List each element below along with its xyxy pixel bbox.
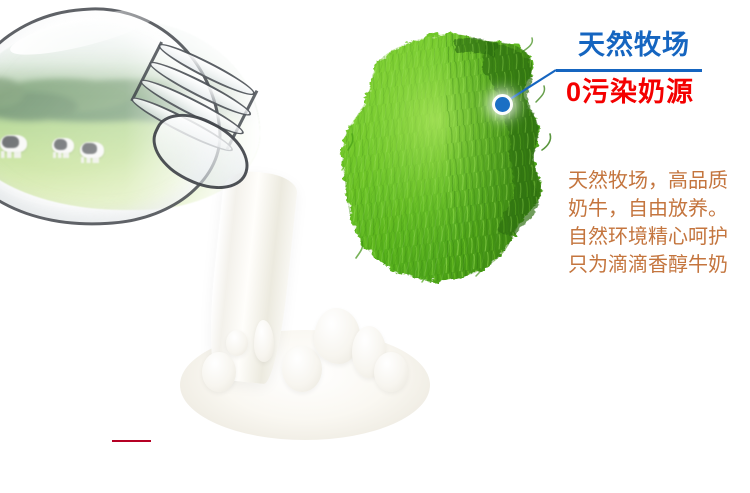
body-copy-line: 奶牛，自由放养。: [568, 195, 748, 223]
map-location-pin[interactable]: [495, 97, 510, 112]
body-copy-line: 天然牧场，高品质: [568, 167, 748, 195]
milk-splash-crown: [196, 300, 412, 398]
headline-secondary: 0污染奶源: [566, 75, 694, 109]
promo-banner: 天然牧场 0污染奶源 天然牧场，高品质 奶牛，自由放养。 自然环境精心呵护 只为…: [0, 0, 750, 493]
body-copy-line: 自然环境精心呵护: [568, 223, 748, 251]
headline-divider: [556, 69, 702, 72]
body-copy-line: 只为滴滴香醇牛奶: [568, 251, 748, 279]
splash-blob: [374, 352, 408, 392]
splash-blob: [282, 346, 322, 392]
headline-primary: 天然牧场: [578, 28, 690, 62]
splash-blob: [226, 330, 248, 356]
ireland-grass-map: [336, 30, 572, 296]
body-copy: 天然牧场，高品质 奶牛，自由放养。 自然环境精心呵护 只为滴滴香醇牛奶: [568, 167, 748, 279]
accent-rule: [112, 440, 151, 442]
splash-blob: [202, 352, 236, 392]
splash-blob: [254, 320, 274, 362]
